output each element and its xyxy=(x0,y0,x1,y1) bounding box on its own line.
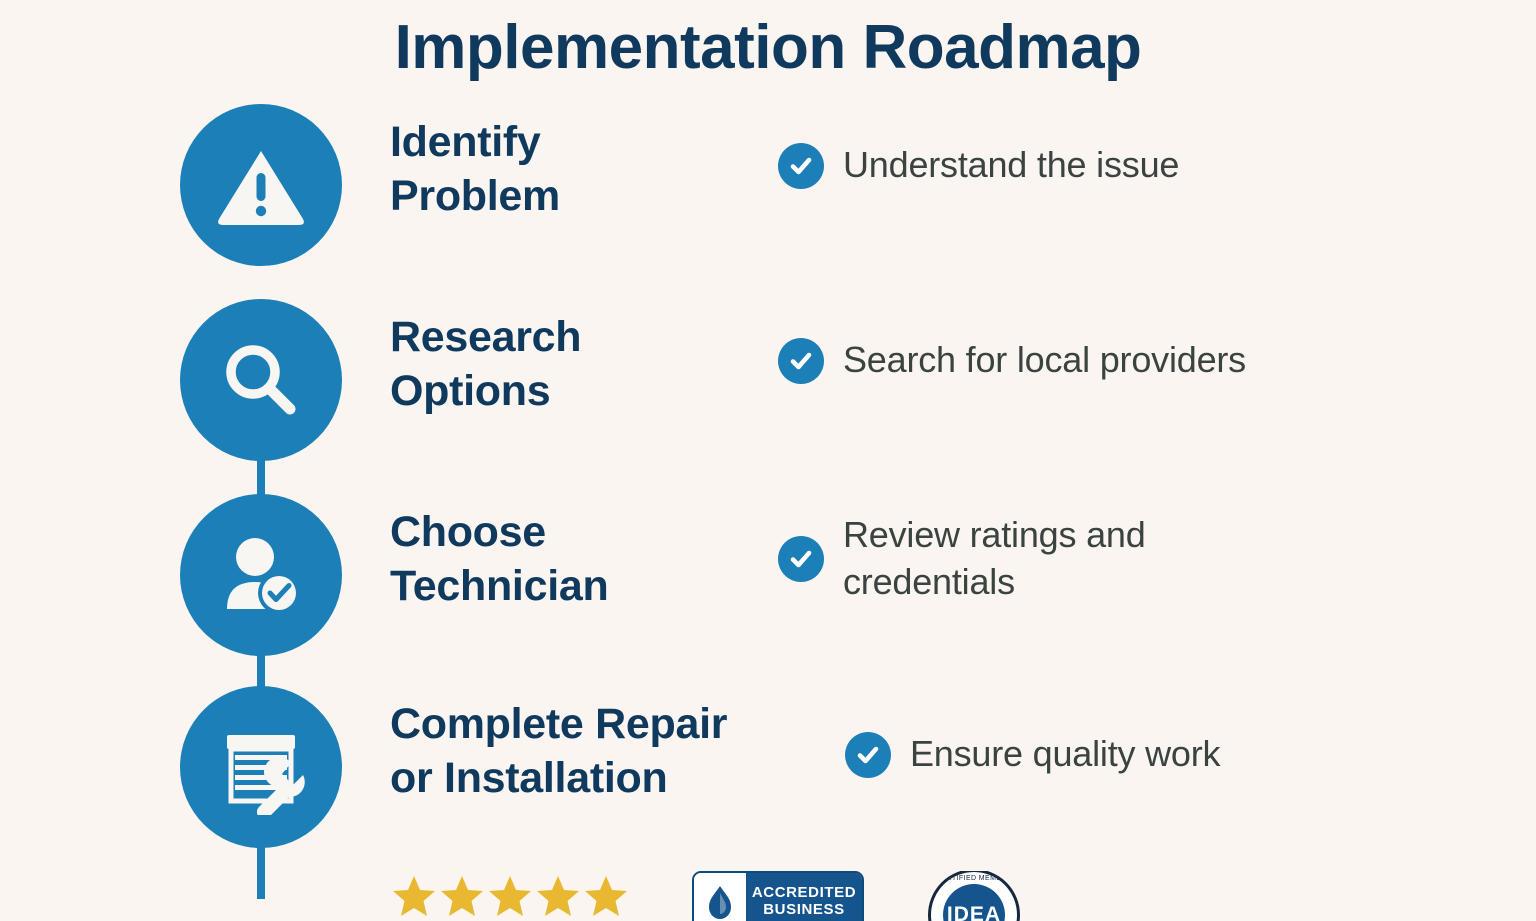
warning-triangle-icon xyxy=(213,137,309,233)
step-title-line2: Technician xyxy=(390,560,608,613)
step-icon-badge xyxy=(180,299,342,461)
step-title-line2: Problem xyxy=(390,170,560,223)
roadmap-step[interactable]: Research Options Search for local provid… xyxy=(0,299,1536,495)
step-title-line1: Complete Repair xyxy=(390,700,727,748)
step-icon-badge xyxy=(180,686,342,848)
magnifier-search-icon xyxy=(215,334,307,426)
step-detail: Review ratings and credentials xyxy=(778,512,1146,606)
check-circle-icon xyxy=(778,338,824,384)
accredited-line1: ACCREDITED xyxy=(752,885,856,902)
accredited-line2: BUSINESS xyxy=(763,902,845,919)
step-detail-text: Review ratings and credentials xyxy=(843,512,1146,606)
garage-door-wrench-icon xyxy=(213,719,309,815)
roadmap-step[interactable]: Choose Technician Review ratings and cre… xyxy=(0,494,1536,690)
step-title-line1: Choose xyxy=(390,508,546,556)
check-circle-icon xyxy=(778,143,824,189)
step-title-line1: Identify xyxy=(390,118,541,166)
step-detail-text: Search for local providers xyxy=(843,337,1246,384)
step-title: Choose Technician xyxy=(390,506,608,613)
step-detail-line2: credentials xyxy=(843,559,1146,606)
step-title: Research Options xyxy=(390,311,581,418)
check-circle-icon xyxy=(778,536,824,582)
step-title-line1: Research xyxy=(390,313,581,361)
step-icon-badge xyxy=(180,494,342,656)
step-detail-text: Understand the issue xyxy=(843,142,1179,189)
user-verified-icon xyxy=(213,527,309,623)
step-detail-text: Ensure quality work xyxy=(910,731,1220,778)
seal-center-text: IDEA xyxy=(943,884,1005,921)
page-title: Implementation Roadmap xyxy=(0,0,1536,82)
roadmap-step[interactable]: Complete Repair or Installation Ensure q… xyxy=(0,686,1536,882)
roadmap-step[interactable]: Identify Problem Understand the issue xyxy=(0,104,1536,300)
step-icon-badge xyxy=(180,104,342,266)
check-circle-icon xyxy=(845,732,891,778)
step-title: Complete Repair or Installation xyxy=(390,698,727,805)
step-title-line2: Options xyxy=(390,365,581,418)
step-detail: Ensure quality work xyxy=(845,731,1220,778)
step-detail: Understand the issue xyxy=(778,142,1179,189)
step-detail-line1: Understand the issue xyxy=(843,144,1179,185)
step-title: Identify Problem xyxy=(390,116,560,223)
step-detail-line1: Search for local providers xyxy=(843,339,1246,380)
step-detail: Search for local providers xyxy=(778,337,1246,384)
step-title-line2: or Installation xyxy=(390,752,727,805)
step-detail-line1: Review ratings and xyxy=(843,514,1146,555)
step-detail-line1: Ensure quality work xyxy=(910,733,1220,774)
